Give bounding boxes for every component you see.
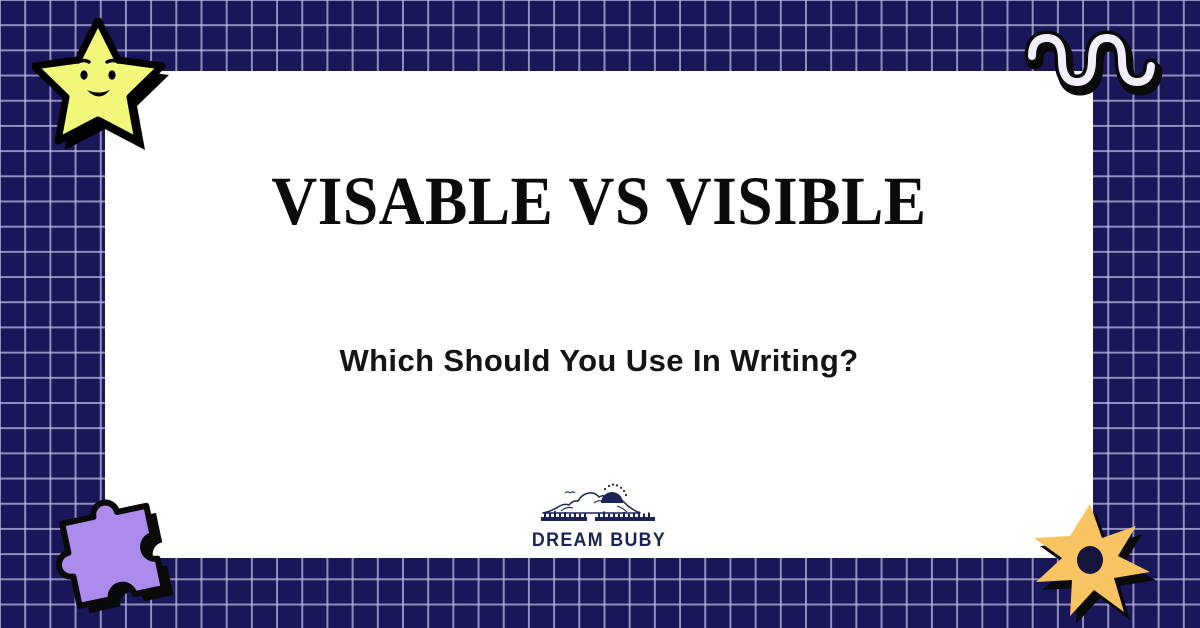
smiling-star-icon bbox=[32, 18, 177, 150]
puzzle-piece-icon bbox=[44, 492, 180, 620]
page-subtitle: Which Should You Use In Writing? bbox=[339, 335, 859, 386]
page-title: VISABLE VS VISIBLE bbox=[145, 167, 1054, 236]
brand-name: DREAM BUBY bbox=[524, 530, 674, 552]
sparkle-burst-icon bbox=[1028, 500, 1164, 624]
brand-logo: DREAM BUBY bbox=[519, 481, 679, 552]
content-card: VISABLE VS VISIBLE Which Should You Use … bbox=[105, 71, 1093, 558]
poster-canvas: VISABLE VS VISIBLE Which Should You Use … bbox=[0, 0, 1200, 628]
squiggle-wave-icon bbox=[1018, 22, 1178, 100]
mountain-sun-logo-icon bbox=[539, 481, 659, 529]
